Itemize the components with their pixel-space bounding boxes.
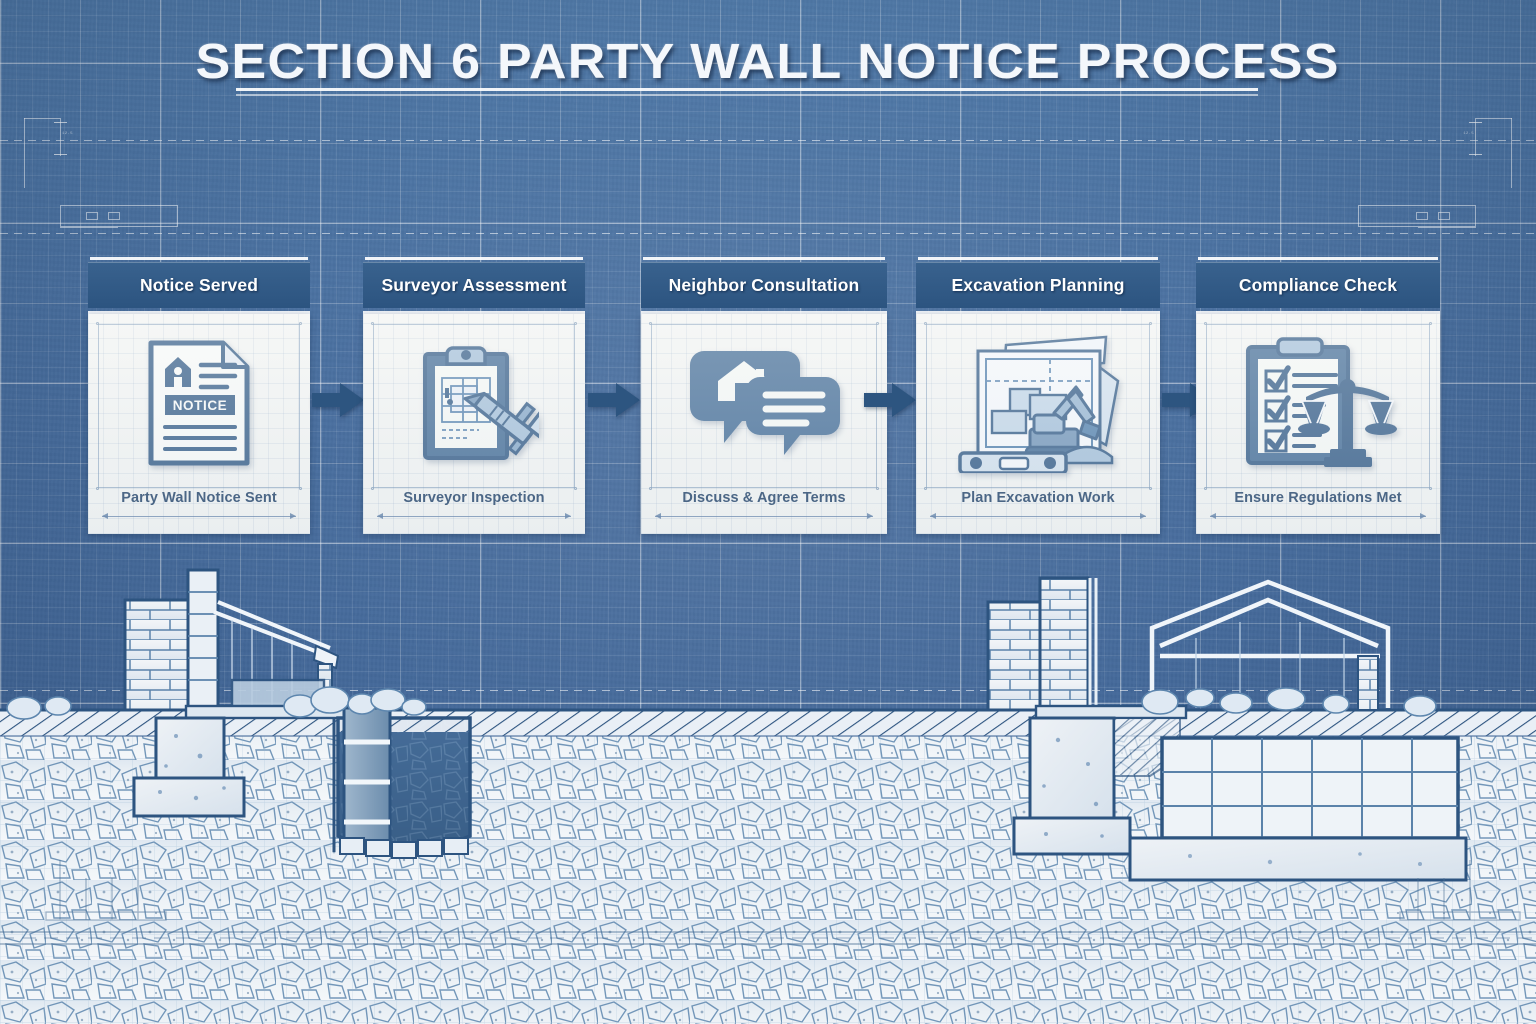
step-body: Plan Excavation Work — [916, 314, 1160, 534]
page-title-area: SECTION 6 PARTY WALL NOTICE PROCESS — [0, 34, 1536, 90]
title-underline-primary — [236, 88, 1258, 91]
caption-dimension-line — [1210, 516, 1426, 517]
flow-arrow-3 — [862, 380, 918, 420]
step-caption: Ensure Regulations Met — [1196, 490, 1440, 506]
notice-stamp-label: NOTICE — [173, 398, 228, 413]
process-flow: Notice Served — [0, 258, 1536, 538]
step-header-bar: Excavation Planning — [916, 262, 1160, 308]
step-caption: Party Wall Notice Sent — [88, 490, 310, 506]
flow-arrow-2 — [586, 380, 642, 420]
process-step-neighbor-consultation[interactable]: Neighbor Consultation — [641, 258, 887, 534]
step-caption: Surveyor Inspection — [363, 490, 585, 506]
party-wall-foundation-cross-section — [0, 560, 1536, 1024]
step-body: Ensure Regulations Met — [1196, 314, 1440, 534]
step-header-bar: Compliance Check — [1196, 262, 1440, 308]
step-header-bar: Surveyor Assessment — [363, 262, 585, 308]
title-underline-secondary — [236, 94, 1258, 96]
step-header-label: Compliance Check — [1239, 275, 1397, 296]
step-body: Surveyor Inspection — [363, 314, 585, 534]
step-header-bar: Notice Served — [88, 262, 310, 308]
process-step-excavation-planning[interactable]: Excavation Planning — [916, 258, 1160, 534]
step-body: NOTICE Party Wall Notice Sent — [88, 314, 310, 534]
caption-dimension-line — [655, 516, 873, 517]
step-header-label: Neighbor Consultation — [669, 275, 860, 296]
caption-dimension-line — [102, 516, 296, 517]
process-step-compliance-check[interactable]: Compliance Check — [1196, 258, 1440, 534]
step-caption: Plan Excavation Work — [916, 490, 1160, 506]
flow-arrow-1 — [310, 380, 366, 420]
step-header-bar: Neighbor Consultation — [641, 262, 887, 308]
notice-document-icon: NOTICE — [88, 328, 310, 478]
page-title: SECTION 6 PARTY WALL NOTICE PROCESS — [196, 34, 1340, 90]
caption-dimension-line — [377, 516, 571, 517]
speech-bubbles-house-icon — [641, 328, 887, 478]
step-header-label: Notice Served — [140, 275, 258, 296]
step-header-label: Surveyor Assessment — [381, 275, 566, 296]
blueprint-excavator-icon — [916, 328, 1160, 478]
caption-dimension-line — [930, 516, 1146, 517]
process-step-notice-served[interactable]: Notice Served — [88, 258, 310, 534]
step-header-label: Excavation Planning — [951, 275, 1124, 296]
process-step-surveyor-assessment[interactable]: Surveyor Assessment — [363, 258, 585, 534]
step-caption: Discuss & Agree Terms — [641, 490, 887, 506]
clipboard-caliper-icon — [363, 328, 585, 478]
checklist-scales-icon — [1196, 328, 1440, 478]
step-body: Discuss & Agree Terms — [641, 314, 887, 534]
